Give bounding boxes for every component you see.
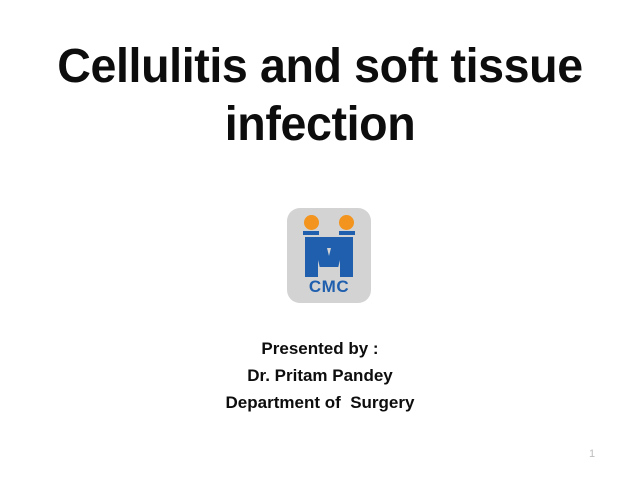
logo-stem-right xyxy=(340,237,353,277)
logo-caption: CMC xyxy=(287,277,371,297)
logo-dot-right-icon xyxy=(339,215,354,230)
logo-cap-left xyxy=(303,231,319,235)
slide-number: 1 xyxy=(580,448,604,460)
presentation-slide: Cellulitis and soft tissue infection CMC… xyxy=(0,0,640,480)
title-line-2: infection xyxy=(29,96,611,154)
logo-cap-right xyxy=(339,231,355,235)
presenter-name: Dr. Pritam Pandey xyxy=(20,362,620,389)
logo-dot-left-icon xyxy=(304,215,319,230)
presenter-department: Department of Surgery xyxy=(20,389,620,416)
logo-stem-left xyxy=(305,237,318,277)
presented-by-label: Presented by : xyxy=(20,335,620,362)
cmc-logo: CMC xyxy=(287,208,371,303)
title-line-1: Cellulitis and soft tissue xyxy=(29,38,611,96)
presenter-block: Presented by : Dr. Pritam Pandey Departm… xyxy=(20,335,620,416)
slide-title: Cellulitis and soft tissue infection xyxy=(20,38,620,154)
